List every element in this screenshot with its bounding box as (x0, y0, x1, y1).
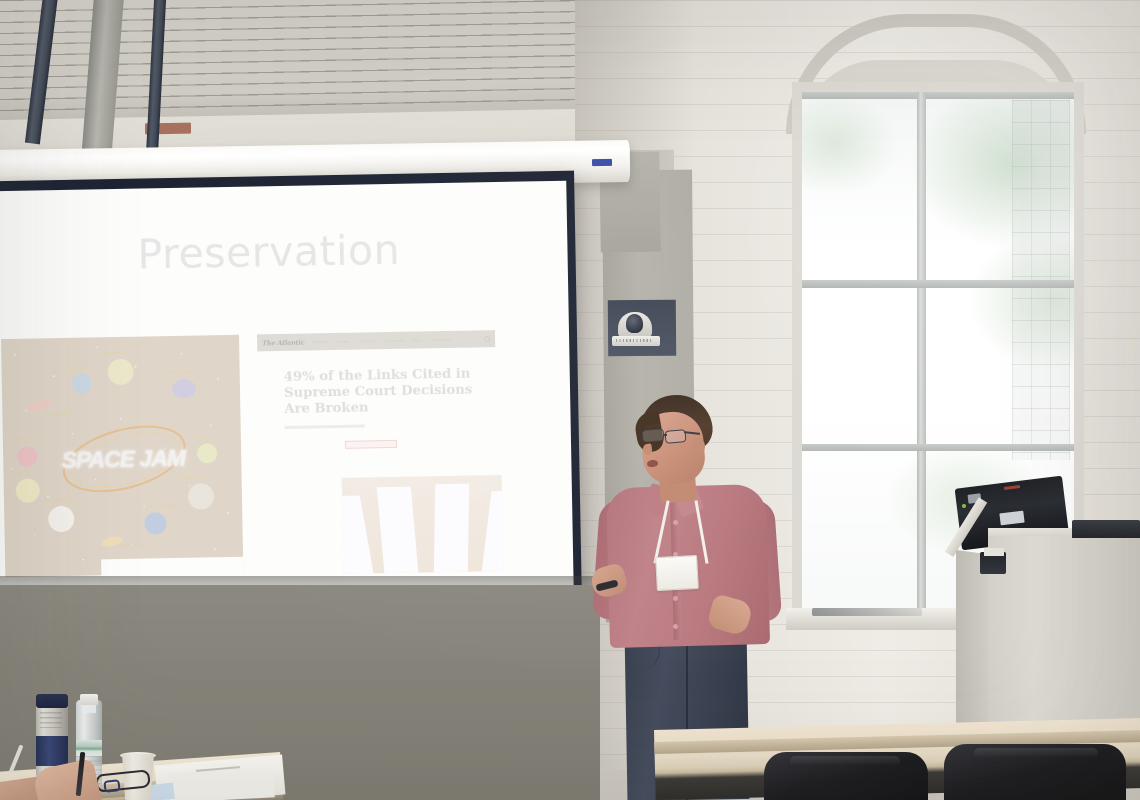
article-tag-button (345, 440, 397, 449)
window-mullion-horizontal (802, 92, 1074, 99)
space-jam-planet-label: STELLAR SOUVENIRS (140, 504, 176, 509)
shirt-button (673, 624, 678, 629)
presenter-ear (692, 438, 705, 455)
monitor-clamp-plate (984, 548, 1004, 556)
travel-mug-lid (36, 694, 68, 708)
nav-item: Popular (313, 340, 328, 344)
nav-item: Magazine (385, 338, 404, 342)
projection-screen-surface: Preservation SPACE JAM PRESS BOX JAM CEN… (0, 181, 574, 600)
space-jam-planet-label: WARNER STUDIOS (46, 498, 77, 503)
atlantic-masthead: The Atlantic (262, 338, 304, 347)
nav-item: Latest (338, 339, 350, 343)
water-bottle-cap (80, 694, 98, 705)
presentation-photo-scene: Preservation SPACE JAM PRESS BOX JAM CEN… (0, 0, 1140, 800)
space-jam-planet (197, 443, 217, 463)
camera-vents (616, 339, 652, 342)
space-jam-crop-edge (101, 557, 243, 578)
window-sill-objects (812, 608, 922, 616)
window-mullion-horizontal (802, 444, 1074, 451)
space-jam-planet-label: SITE MAP (17, 471, 33, 475)
space-jam-planet (144, 512, 166, 534)
crosswalk-stripe (482, 491, 504, 572)
space-jam-logo: SPACE JAM (55, 432, 192, 486)
camera-lens-icon (626, 314, 643, 333)
shirt-button (673, 596, 678, 601)
atlantic-navbar: The Atlantic Popular Latest Sections Mag… (257, 330, 495, 351)
article-photo-crosswalk (342, 475, 504, 574)
space-jam-planet (48, 506, 74, 532)
space-jam-planet (188, 483, 214, 509)
space-jam-planet-label: STUDIO STORE (44, 412, 70, 416)
slide-image-space-jam: SPACE JAM PRESS BOX JAM CENTRAL LUNAR TU… (1, 335, 243, 577)
eyeglasses-lens-left (641, 428, 664, 443)
nav-item: Subscribe (431, 337, 451, 341)
space-jam-planet (16, 478, 40, 502)
shirt-button (673, 520, 678, 525)
slide-image-atlantic-article: The Atlantic Popular Latest Sections Mag… (257, 330, 499, 572)
monitor-power-led (962, 504, 966, 508)
search-icon (484, 336, 490, 342)
article-byline (285, 424, 365, 428)
lectern-tray (1072, 520, 1140, 538)
name-badge (655, 555, 699, 591)
slide-title: Preservation (137, 226, 400, 279)
travel-mug-logo (40, 712, 62, 728)
travel-mug-grip (36, 736, 68, 766)
space-jam-planet (72, 373, 92, 393)
crosswalk-stripe (342, 496, 374, 574)
space-jam-planet-label: THE LINEUP (193, 435, 213, 439)
space-jam-planet-label: LUNAR TUNES (168, 370, 192, 374)
space-jam-planet-label: PLANET B-BALL (180, 475, 206, 479)
space-jam-planet (172, 380, 196, 398)
chair-highlight (974, 748, 1098, 758)
chair-highlight (790, 756, 900, 766)
water-bottle-neck (82, 704, 96, 713)
space-jam-planet-label: BEHIND THE JAM (117, 543, 146, 548)
nav-item: Sections (359, 339, 376, 343)
window-mullion-horizontal (802, 280, 1074, 288)
eyeglasses-on-table-lens (103, 779, 120, 793)
space-jam-planet-label: JAM CENTRAL (66, 366, 90, 370)
eyeglasses-bridge (663, 434, 667, 436)
paper-sheet (169, 767, 274, 800)
nav-item: More (413, 338, 423, 342)
space-jam-planet-label: PRESS BOX (101, 351, 121, 355)
space-jam-planet-label: JUNIOR JAM (17, 436, 38, 440)
screen-brand-label (592, 159, 612, 166)
window-mullion-vertical (917, 92, 926, 614)
crosswalk-stripe (434, 484, 469, 573)
space-jam-planet (17, 446, 37, 466)
article-headline: 49% of the Links Cited in Supreme Court … (284, 366, 475, 418)
crosswalk-stripe (377, 487, 419, 573)
space-jam-planet (107, 359, 133, 385)
